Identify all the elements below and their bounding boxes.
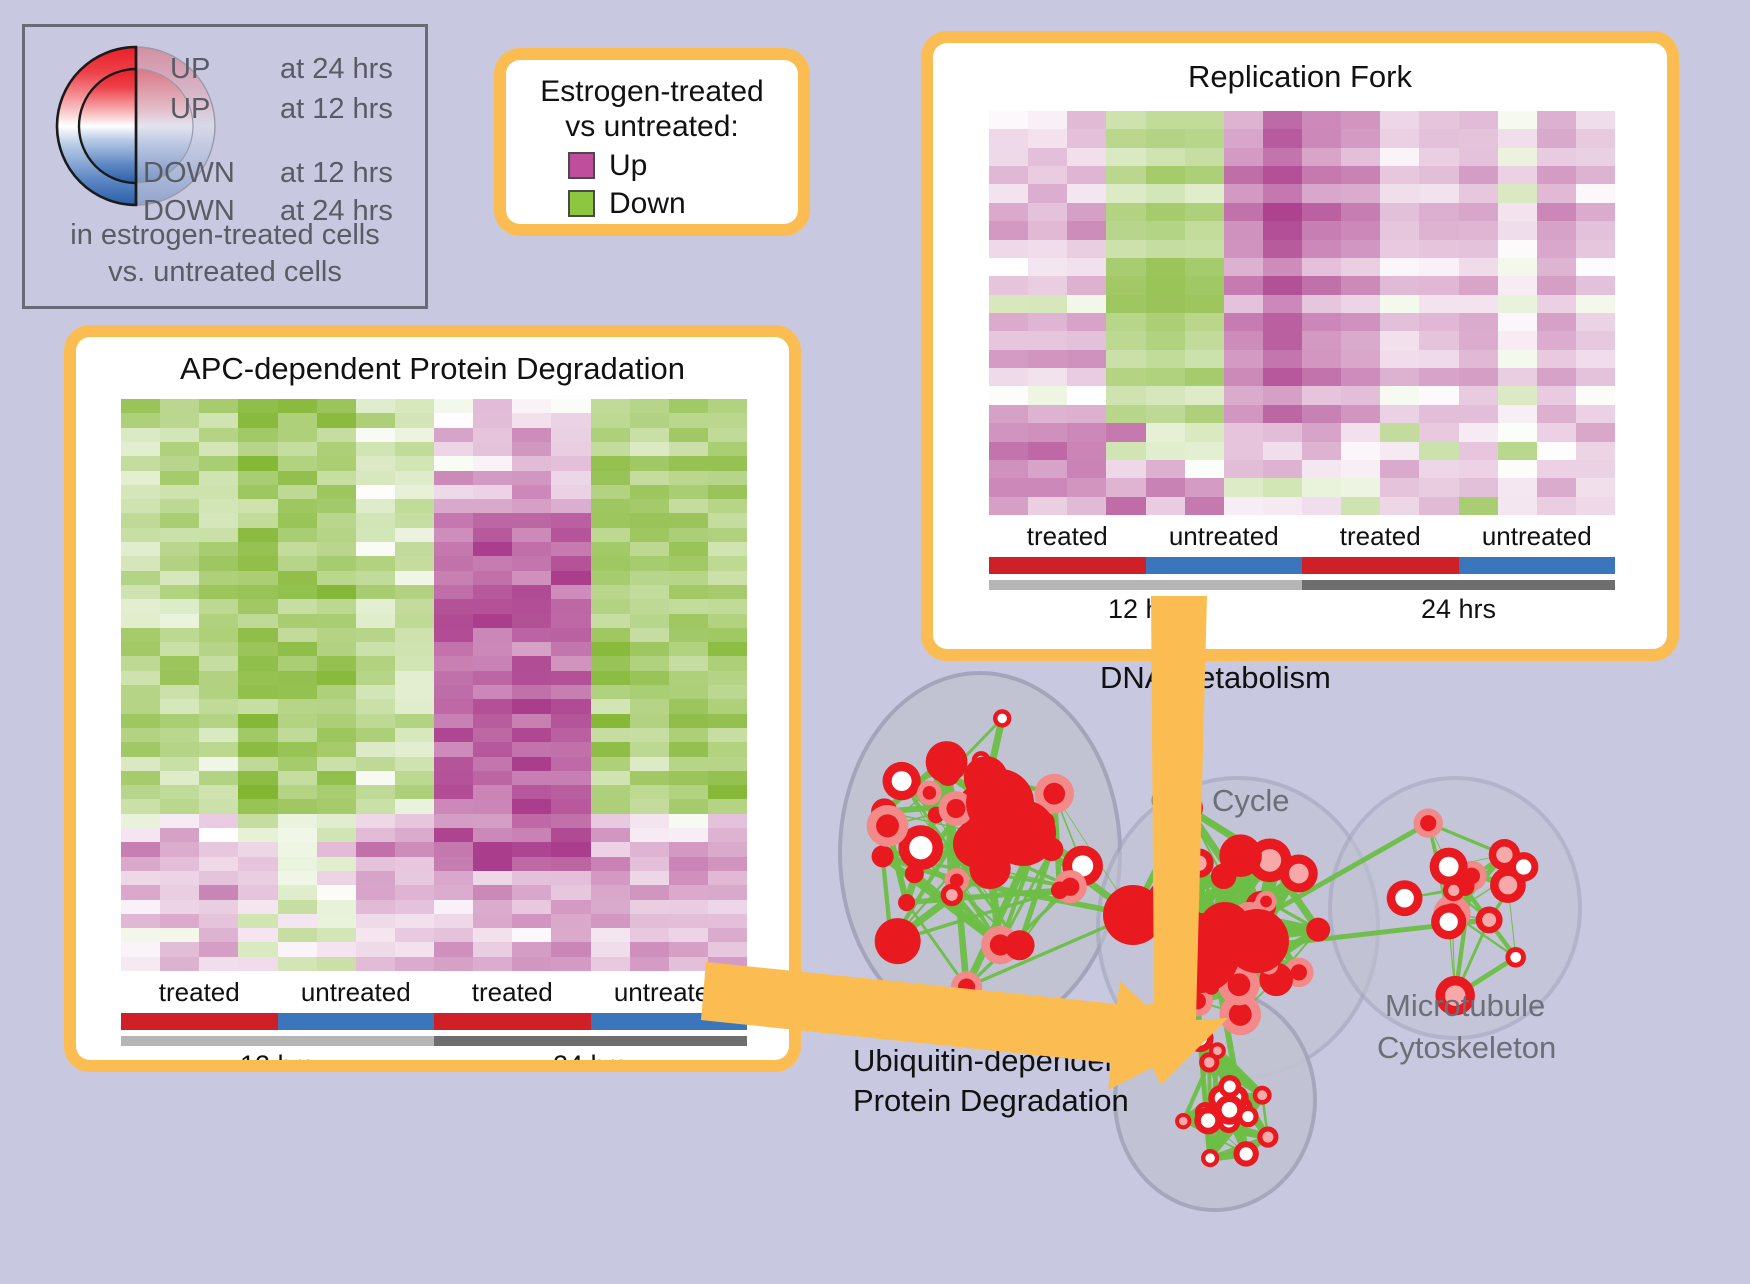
panel-replication-fork: Replication Fork treateduntreatedtreated…: [921, 31, 1679, 661]
group-bar-untreated: [591, 1013, 748, 1030]
time-bar-12-hrs: [989, 580, 1302, 590]
group-label-treated: treated: [989, 521, 1146, 555]
heatmap-replication-fork: [989, 111, 1615, 515]
color-key-footer: in estrogen-treated cells vs. untreated …: [25, 217, 425, 291]
panel-title-apc: APC-dependent Protein Degradation: [76, 351, 789, 387]
heatmap-apc: [121, 399, 747, 971]
group-label-treated: treated: [434, 977, 591, 1011]
color-key-footer-line2: vs. untreated cells: [25, 254, 425, 291]
group-bar-untreated: [1146, 557, 1303, 574]
heatmap-time-labels-apc: 12 hrs24 hrs: [121, 1050, 747, 1060]
network-label-ubiquitin: Ubiquitin-dependent: [853, 1043, 1131, 1079]
color-key-row-0-label: UP: [170, 53, 210, 86]
network-label-microtubule: Microtubule: [1385, 988, 1545, 1024]
time-bar-12-hrs: [121, 1036, 434, 1046]
network-label-cell-cycle: Cell Cycle: [1150, 783, 1290, 819]
group-label-untreated: untreated: [278, 977, 435, 1011]
group-label-treated: treated: [121, 977, 278, 1011]
legend-heading-line1: Estrogen-treated: [506, 74, 798, 109]
legend-swatch-up: [568, 152, 595, 179]
legend-heading: Estrogen-treated vs untreated:: [506, 74, 798, 145]
heatmap-group-colorbar-apc: [121, 1013, 747, 1030]
legend-swatch-down: [568, 190, 595, 217]
group-label-treated: treated: [1302, 521, 1459, 555]
time-bar-24-hrs: [434, 1036, 747, 1046]
network-label-cytoskeleton: Cytoskeleton: [1377, 1030, 1556, 1066]
legend-panel: Estrogen-treated vs untreated: Up Down: [494, 48, 810, 236]
time-bar-24-hrs: [1302, 580, 1615, 590]
legend-item-up: Up: [568, 149, 798, 183]
group-bar-treated: [1302, 557, 1459, 574]
panel-apc-degradation: APC-dependent Protein Degradation treate…: [64, 325, 801, 1072]
heatmap-time-colorbar-apc: [121, 1036, 747, 1046]
color-key-row-1-time: at 12 hrs: [280, 93, 393, 126]
heatmap-time-labels-replication-fork: 12 hrs24 hrs: [989, 594, 1615, 630]
group-label-untreated: untreated: [1146, 521, 1303, 555]
color-key-footer-line1: in estrogen-treated cells: [25, 217, 425, 254]
group-bar-untreated: [278, 1013, 435, 1030]
group-bar-treated: [121, 1013, 278, 1030]
heatmap-group-labels-apc: treateduntreatedtreateduntreated: [121, 977, 747, 1011]
legend-item-down: Down: [568, 187, 798, 221]
color-key-row-2-label: DOWN: [143, 157, 235, 190]
legend-label-down: Down: [609, 187, 686, 221]
panel-title-replication-fork: Replication Fork: [933, 59, 1667, 95]
group-bar-untreated: [1459, 557, 1616, 574]
color-key-row-2-time: at 12 hrs: [280, 157, 393, 190]
group-bar-treated: [434, 1013, 591, 1030]
group-bar-treated: [989, 557, 1146, 574]
color-key-row-1-label: UP: [170, 93, 210, 126]
color-key-box: UP at 24 hrs UP at 12 hrs DOWN at 12 hrs…: [22, 24, 428, 309]
time-label-12-hrs: 12 hrs: [121, 1050, 434, 1060]
legend-label-up: Up: [609, 149, 647, 183]
network-label-dna-metabolism: DNA Metabolism: [1100, 660, 1331, 696]
time-label-24-hrs: 24 hrs: [434, 1050, 747, 1060]
heatmap-time-colorbar-replication-fork: [989, 580, 1615, 590]
network-label-protein-degradation: Protein Degradation: [853, 1083, 1129, 1119]
heatmap-group-colorbar-replication-fork: [989, 557, 1615, 574]
group-label-untreated: untreated: [1459, 521, 1616, 555]
network-diagram: DNA Metabolism Cell Cycle Microtubule Cy…: [795, 628, 1750, 1279]
group-label-untreated: untreated: [591, 977, 748, 1011]
legend-heading-line2: vs untreated:: [506, 109, 798, 144]
time-label-24-hrs: 24 hrs: [1302, 594, 1615, 630]
time-label-12-hrs: 12 hrs: [989, 594, 1302, 630]
heatmap-group-labels-replication-fork: treateduntreatedtreateduntreated: [989, 521, 1615, 555]
color-key-row-0-time: at 24 hrs: [280, 53, 393, 86]
